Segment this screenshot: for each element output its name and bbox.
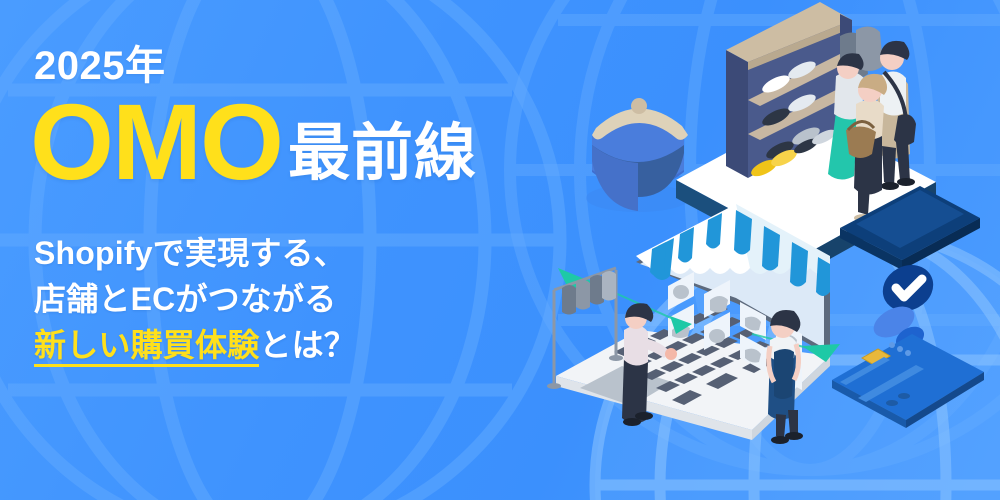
- credit-card-icon: [832, 334, 984, 428]
- main-headline: OMO 最前線: [30, 92, 594, 191]
- subtitle-highlight: 新しい購買体験: [34, 327, 259, 367]
- omo-illustration: [540, 0, 1000, 500]
- headline-suffix: 最前線: [288, 123, 477, 191]
- subtitle-tail: とは？: [259, 327, 356, 363]
- subtitle-line-2: 店舗とECがつながる: [34, 277, 594, 322]
- staff-woman-apron: [768, 310, 803, 444]
- subtitle-line-1: Shopifyで実現する、: [34, 231, 594, 276]
- subtitle-block: Shopifyで実現する、 店舗とECがつながる 新しい購買体験とは？: [34, 231, 594, 369]
- subtitle-line-3: 新しい購買体験とは？: [34, 322, 594, 369]
- headline-omo: OMO: [30, 92, 282, 191]
- omo-campaign-banner: 2025年 OMO 最前線 Shopifyで実現する、 店舗とECがつながる 新…: [0, 0, 1000, 500]
- year-label: 2025年: [34, 46, 594, 86]
- coin-purse-icon: [586, 98, 690, 212]
- headline-copy-block: 2025年 OMO 最前線 Shopifyで実現する、 店舗とECがつながる 新…: [34, 46, 594, 369]
